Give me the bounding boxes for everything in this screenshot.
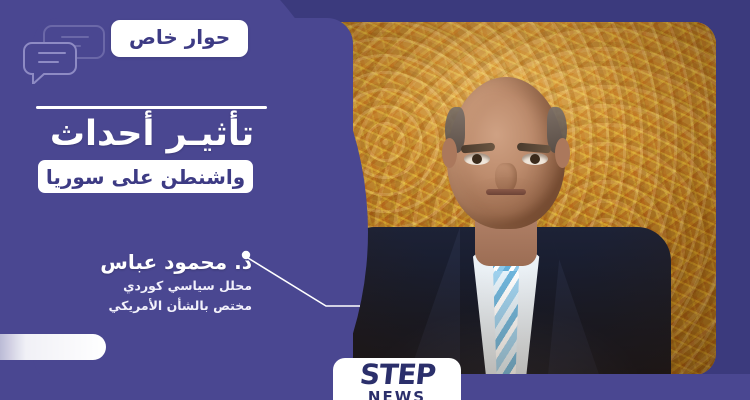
page-title: تأثيـر أحداث <box>36 112 268 158</box>
special-dialogue-badge[interactable]: حوار خاص <box>111 20 248 57</box>
poster-root: حوار خاص تأثيـر أحداث واشنطن على سوريا د… <box>0 0 750 400</box>
speaker-role-line-2: مختص بالشأن الأمريكي <box>30 298 260 315</box>
logo-primary-text: STEP <box>358 361 436 389</box>
page-subtitle: واشنطن على سوريا <box>46 167 245 187</box>
decorative-pill <box>0 334 106 360</box>
speaker-info: د. محمود عباس محلل سياسي كوردي مختص بالش… <box>30 250 260 315</box>
logo-secondary-text: NEWS <box>368 390 426 400</box>
speech-bubbles-icon <box>22 22 108 84</box>
title-divider-rule <box>36 106 267 109</box>
step-news-logo[interactable]: STEP NEWS <box>333 358 461 400</box>
speaker-role-line-1: محلل سياسي كوردي <box>30 278 260 295</box>
subtitle-box: واشنطن على سوريا <box>38 160 253 193</box>
speaker-name: د. محمود عباس <box>30 250 260 275</box>
